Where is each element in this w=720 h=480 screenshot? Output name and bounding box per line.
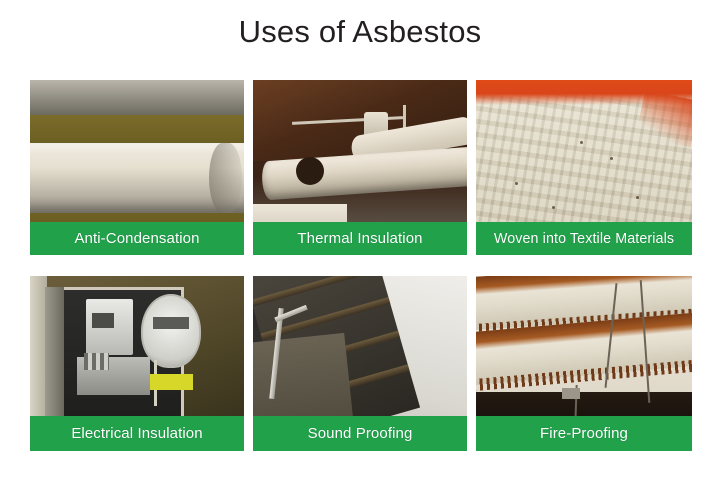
grid-row-bottom: Electrical Insulation Sound Proofi — [30, 276, 692, 451]
photo-speck — [515, 182, 518, 185]
caption-anti-condensation: Anti-Condensation — [30, 222, 244, 255]
caption-thermal-insulation: Thermal Insulation — [253, 222, 467, 255]
caption-fire-proofing: Fire-Proofing — [476, 416, 692, 451]
caption-electrical-insulation: Electrical Insulation — [30, 416, 244, 451]
photo-joist — [253, 276, 381, 306]
photo-wall-mid — [30, 115, 244, 145]
photo-orange-backdrop — [476, 80, 692, 105]
photo-beam-rust — [476, 276, 692, 296]
caption-sound-proofing: Sound Proofing — [253, 416, 467, 451]
card-anti-condensation[interactable]: Anti-Condensation — [30, 80, 244, 255]
photo-speck — [610, 157, 613, 160]
photo-breaker-panel — [77, 357, 150, 396]
photo-pipe — [30, 143, 244, 213]
uses-grid: Anti-Condensation Thermal Insulation — [30, 80, 692, 451]
card-sound-proofing[interactable]: Sound Proofing — [253, 276, 467, 451]
infographic-root: Uses of Asbestos Anti-Condensation — [0, 0, 720, 480]
photo-speck — [636, 196, 639, 199]
photo-meter-primary — [86, 299, 133, 355]
photo-speck — [580, 141, 583, 144]
card-electrical-insulation[interactable]: Electrical Insulation — [30, 276, 244, 451]
card-woven-textile-materials[interactable]: Woven into Textile Materials — [476, 80, 692, 255]
photo-mount-plate — [562, 388, 579, 399]
photo-speck — [552, 206, 555, 209]
photo-meter-round — [141, 294, 201, 368]
card-thermal-insulation[interactable]: Thermal Insulation — [253, 80, 467, 255]
grid-row-top: Anti-Condensation Thermal Insulation — [30, 80, 692, 255]
page-title: Uses of Asbestos — [0, 14, 720, 50]
photo-box-door — [45, 287, 64, 427]
card-fire-proofing[interactable]: Fire-Proofing — [476, 276, 692, 451]
photo-pipe-joint — [296, 157, 324, 185]
photo-beam-fringe — [476, 357, 692, 391]
photo-wall-top — [30, 80, 244, 115]
caption-woven-textile-materials: Woven into Textile Materials — [476, 222, 692, 255]
photo-yellow-label — [150, 374, 193, 390]
